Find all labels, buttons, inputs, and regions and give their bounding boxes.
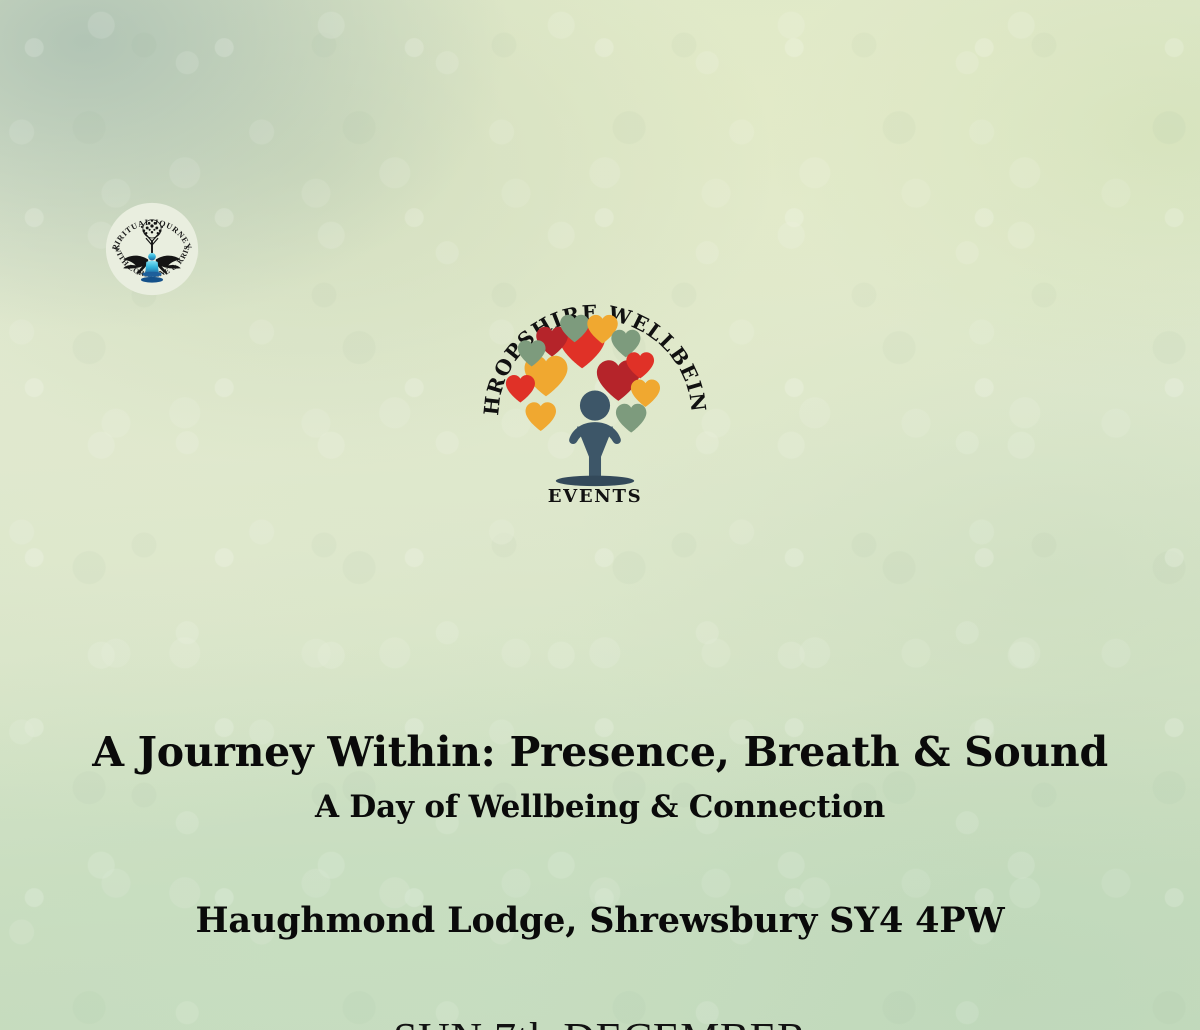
event-date: SUN 7th DECEMBER: [0, 1013, 1200, 1030]
heart-yellow-lower-left: [526, 402, 556, 431]
event-poster: SPIRITUAL JOURNEYS WITH LORRAINE & KRIS: [0, 0, 1200, 1030]
figure-icon: [569, 390, 621, 479]
page-title: A Journey Within: Presence, Breath & Sou…: [0, 730, 1200, 776]
page-subtitle: A Day of Wellbeing & Connection: [0, 790, 1200, 824]
heart-red-far-left: [506, 375, 535, 403]
heart-yellow-right: [631, 380, 660, 408]
figure-ground-shadow: [556, 476, 634, 487]
events-label: EVENTS: [548, 486, 643, 507]
spiritual-journeys-logo: SPIRITUAL JOURNEYS WITH LORRAINE & KRIS: [104, 201, 200, 297]
venue-line: Haughmond Lodge, Shrewsbury SY4 4PW: [0, 902, 1200, 941]
poster-text-block: A Journey Within: Presence, Breath & Sou…: [0, 730, 1200, 1030]
shropshire-wellbeing-events-logo: SHROPSHIRE WELLBEING: [482, 282, 708, 508]
heart-green-lower-right: [616, 404, 646, 433]
